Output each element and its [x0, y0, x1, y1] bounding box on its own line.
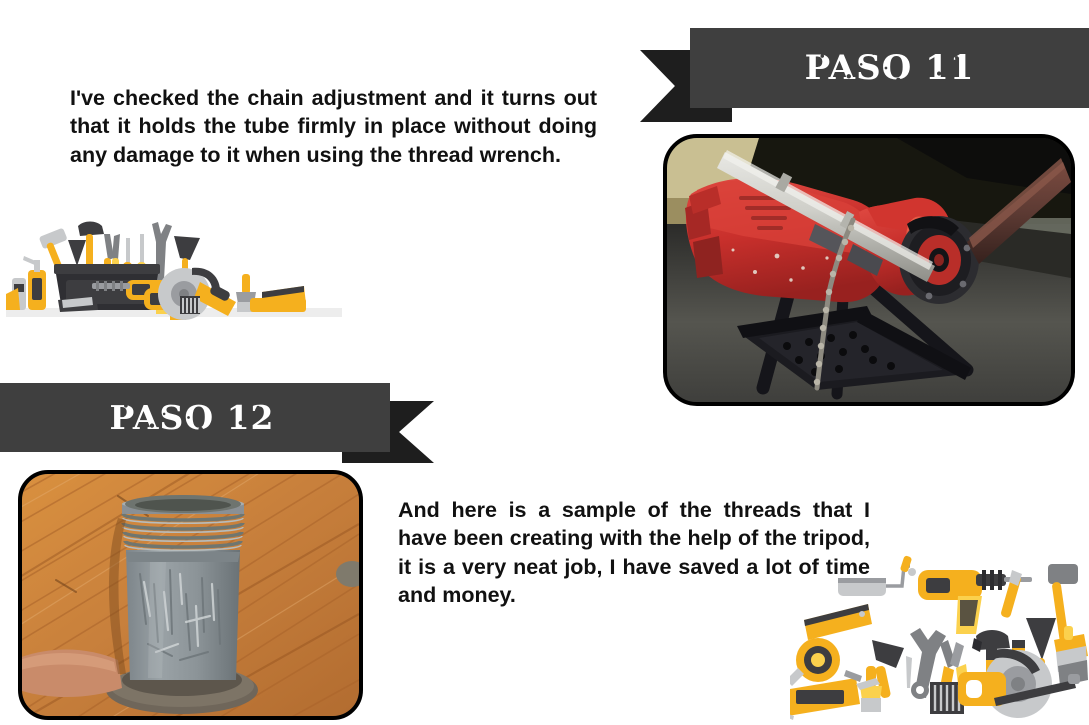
chain-vise-tripod-illustration [667, 138, 1071, 402]
paint-tray-icon [250, 298, 306, 312]
photo-paso11 [663, 134, 1075, 406]
threaded-pipe-illustration [22, 474, 359, 716]
slide-canvas: PASO 11 I've checked the chain adjustmen… [0, 0, 1089, 720]
tape-measure-icon [790, 638, 840, 686]
scattered-tools-illustration [790, 548, 1089, 720]
paint-roller-icon [838, 555, 912, 596]
photo-paso11-content [667, 138, 1071, 402]
wire-brush-icon [180, 296, 200, 314]
photo-paso12 [18, 470, 363, 720]
paragraph-step-11: I've checked the chain adjustment and it… [70, 84, 597, 169]
scattered-tools-icon-group [790, 548, 1089, 720]
ribbon-bar: PASO 12 [0, 383, 390, 452]
glue-bottle-icon [23, 256, 46, 310]
banner-paso12: PASO 12 [0, 383, 440, 473]
spray-can-icon [6, 278, 26, 310]
banner-paso11-title: PASO 11 [805, 51, 975, 85]
banner-paso11: PASO 11 [640, 28, 1089, 143]
photo-paso12-content [22, 474, 359, 716]
level-icon [804, 604, 872, 640]
banner-paso12-title: PASO 12 [109, 401, 274, 434]
toolbox-icon-group [4, 212, 344, 320]
ribbon-bar: PASO 11 [690, 28, 1089, 108]
sledgehammer-icon [1048, 564, 1078, 646]
toolbox-cluster-illustration [4, 212, 344, 320]
